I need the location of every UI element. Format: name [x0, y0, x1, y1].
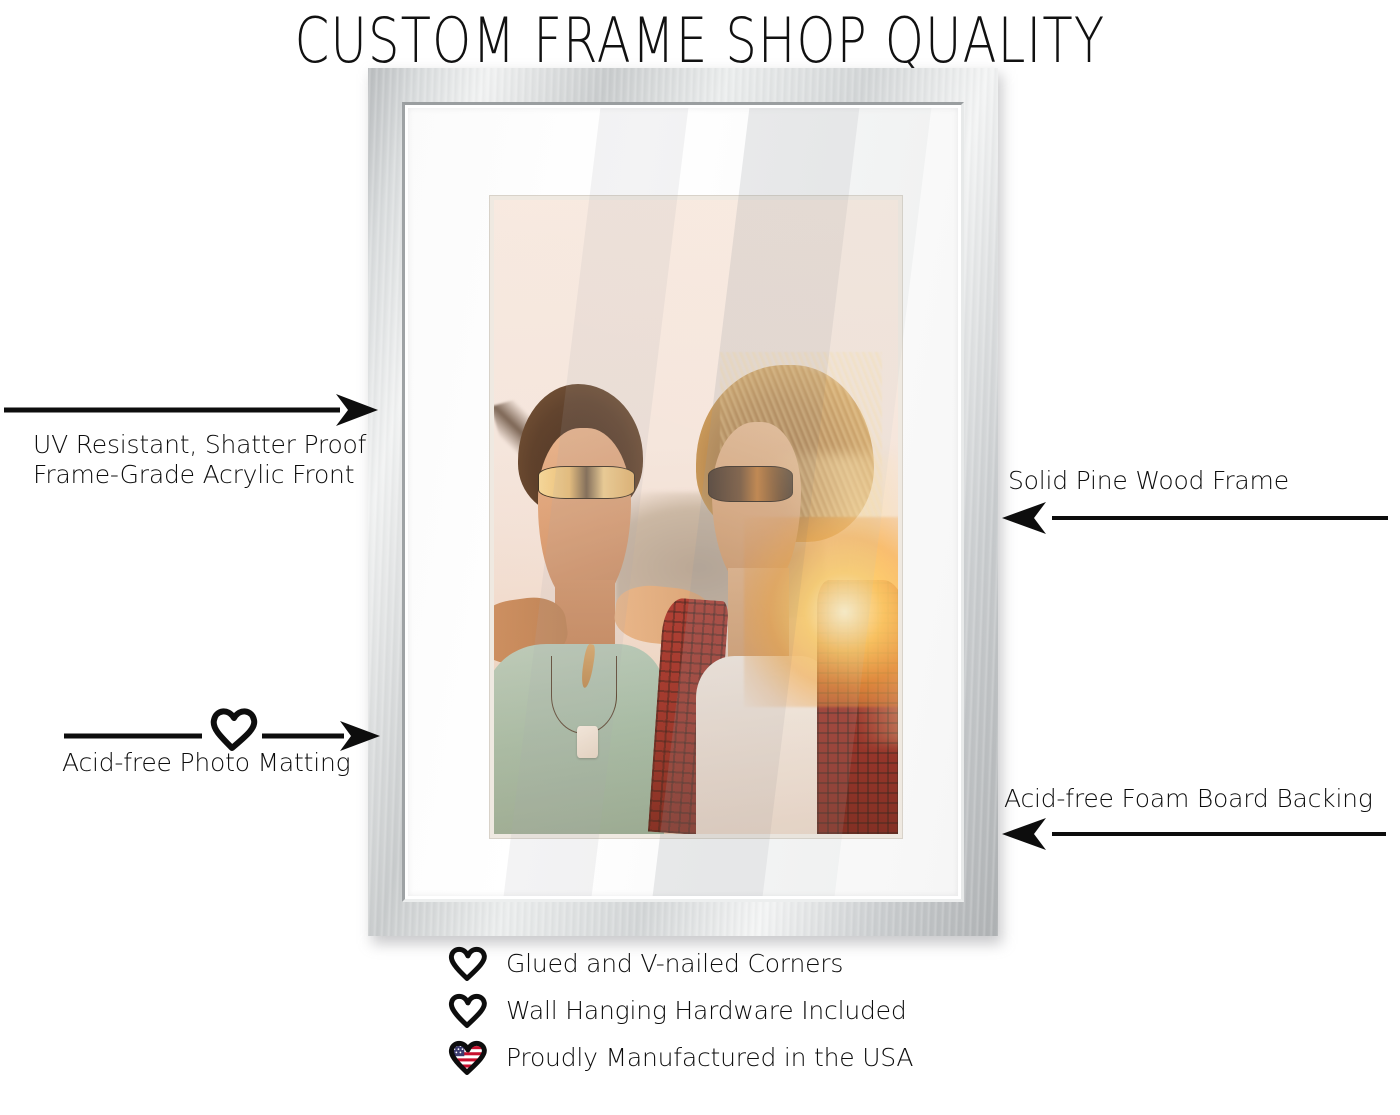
heart-usa-flag-icon [444, 1040, 490, 1076]
page-title: CUSTOM FRAME SHOP QUALITY [140, 4, 1260, 77]
list-item: Wall Hanging Hardware Included [444, 987, 1004, 1034]
feature-list: Glued and V-nailed Corners Wall Hanging … [444, 940, 1004, 1081]
arrow-left-icon-backing [1000, 816, 1388, 850]
infographic-canvas: CUSTOM FRAME SHOP QUALITY [0, 0, 1400, 1115]
callout-foam-board-backing: Acid-free Foam Board Backing [1004, 784, 1373, 814]
heart-icon [444, 993, 490, 1029]
callout-line: Solid Pine Wood Frame [1008, 466, 1289, 496]
arrow-left-icon-frame [1000, 500, 1390, 534]
arrow-right-icon-acrylic [0, 392, 380, 428]
man-dogtag-pendant [577, 726, 598, 758]
callout-line: Acid-free Foam Board Backing [1004, 784, 1373, 814]
list-item-label: Wall Hanging Hardware Included [490, 996, 907, 1025]
heart-icon [444, 946, 490, 982]
framed-picture [368, 68, 1002, 942]
sun-flare [744, 517, 898, 707]
list-item-label: Proudly Manufactured in the USA [490, 1043, 913, 1072]
list-item: Proudly Manufactured in the USA [444, 1034, 1004, 1081]
callout-line: Acid-free Photo Matting [62, 748, 350, 778]
arrow-right-icon-matting [62, 702, 382, 754]
callout-line: UV Resistant, Shatter Proof [33, 430, 366, 460]
callout-acrylic-front: UV Resistant, Shatter Proof Frame-Grade … [33, 430, 366, 490]
list-item-label: Glued and V-nailed Corners [490, 949, 843, 978]
callout-photo-matting: Acid-free Photo Matting [62, 748, 350, 778]
list-item: Glued and V-nailed Corners [444, 940, 1004, 987]
man-sunglasses [538, 466, 635, 499]
callout-pine-wood-frame: Solid Pine Wood Frame [1008, 466, 1289, 496]
callout-line: Frame-Grade Acrylic Front [33, 460, 366, 490]
photograph [494, 200, 898, 834]
